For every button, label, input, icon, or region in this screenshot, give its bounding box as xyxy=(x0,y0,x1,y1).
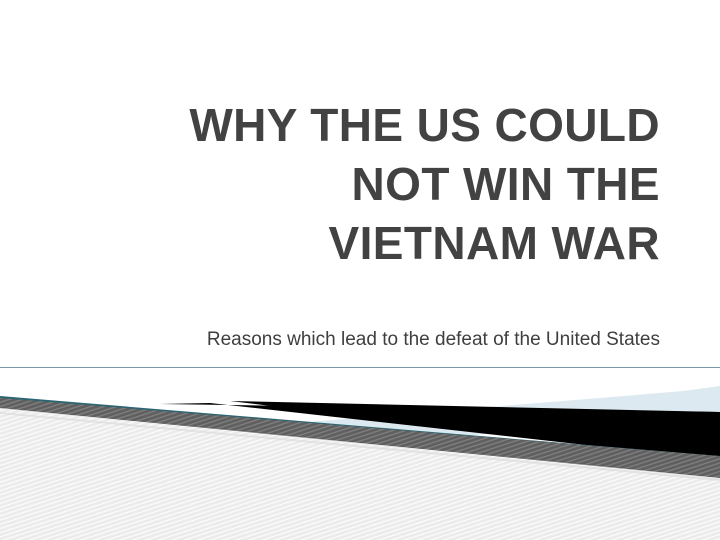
title-block: WHY THE US COULD NOT WIN THE VIETNAM WAR xyxy=(60,96,660,273)
angled-bands-graphic xyxy=(0,368,720,540)
subtitle-block: Reasons which lead to the defeat of the … xyxy=(60,327,660,353)
decoration-svg xyxy=(0,368,720,540)
slide-subtitle: Reasons which lead to the defeat of the … xyxy=(60,327,660,353)
presentation-slide: WHY THE US COULD NOT WIN THE VIETNAM WAR… xyxy=(0,0,720,540)
page-title: WHY THE US COULD NOT WIN THE VIETNAM WAR xyxy=(60,96,660,273)
